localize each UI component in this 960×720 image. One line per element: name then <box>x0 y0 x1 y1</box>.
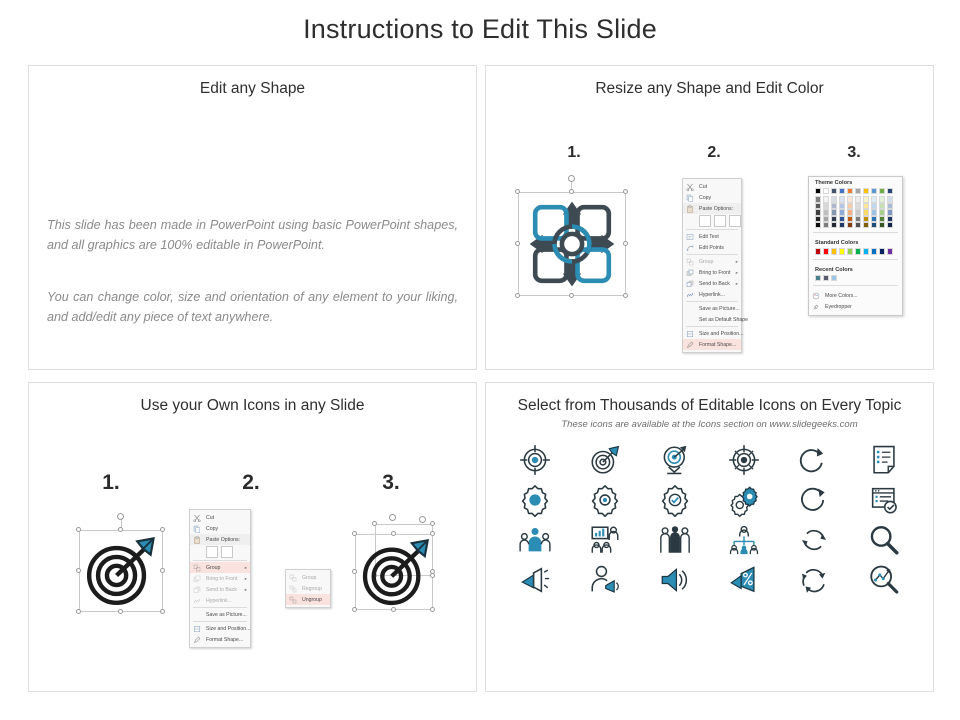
icon-cell[interactable] <box>849 443 919 477</box>
resize-handle-n[interactable] <box>569 189 574 194</box>
icon-context-menu[interactable]: Cut Copy Paste Options: Group ▸ <box>189 509 251 648</box>
analytics-search-icon <box>867 563 901 597</box>
icon-library-grid <box>500 443 919 597</box>
theme-color-column <box>879 188 885 228</box>
theme-color-column <box>871 188 877 228</box>
edit-shape-paragraph-2: You can change color, size and orientati… <box>47 288 458 327</box>
group-icon <box>193 564 201 572</box>
ctx-item-group[interactable]: Group ▸ <box>683 256 741 267</box>
hyperlink-icon <box>686 291 694 299</box>
swatch[interactable] <box>847 222 853 228</box>
icon-library-subtitle: These icons are available at the Icons s… <box>486 419 933 430</box>
submenu-arrow-icon: ▸ <box>736 281 738 287</box>
icon-cell[interactable] <box>710 523 780 557</box>
resize-handle-se[interactable] <box>160 609 165 614</box>
swatch[interactable] <box>839 248 845 254</box>
swatch[interactable] <box>815 222 821 228</box>
double-gear-icon <box>727 483 761 517</box>
ctx-item-cut[interactable]: Cut <box>683 181 741 192</box>
theme-color-column <box>839 188 845 228</box>
cp-label: More Colors... <box>825 293 858 299</box>
panel-title-edit-shape: Edit any Shape <box>29 80 476 98</box>
swatch[interactable] <box>887 222 893 228</box>
icon-cell[interactable] <box>570 563 640 597</box>
target-dart-graphic <box>83 534 159 608</box>
ctx-item-paste-options: Paste Options: <box>190 534 250 545</box>
icon-cell[interactable] <box>500 443 570 477</box>
ctx-item-size-and-position[interactable]: Size and Position... <box>683 328 741 339</box>
icon-cell[interactable] <box>640 523 710 557</box>
rotation-handle-part[interactable] <box>419 516 426 523</box>
swatch[interactable] <box>847 248 853 254</box>
ctx-label: Format Shape... <box>699 342 736 348</box>
checklist-approved-icon <box>867 483 901 517</box>
panel-own-icons: Use your Own Icons in any Slide 1. 2. 3. <box>28 382 477 692</box>
swatch[interactable] <box>871 188 877 194</box>
resize-handle-w[interactable] <box>352 569 357 574</box>
target-dart-graphic <box>359 536 433 608</box>
icon-cell[interactable] <box>779 563 849 597</box>
ctx-label: Edit Points <box>699 245 724 251</box>
group-people-icon <box>658 523 692 557</box>
swatch[interactable] <box>823 275 829 281</box>
megaphone-icon <box>518 563 552 597</box>
ctx-item-size-and-position[interactable]: Size and Position... <box>190 623 250 634</box>
gear-small-icon <box>588 483 622 517</box>
recycle-arrows-icon <box>797 563 831 597</box>
size-position-icon <box>686 330 694 338</box>
ctx-separator <box>193 607 247 608</box>
ctx-separator <box>686 229 738 230</box>
resize-handle-ne[interactable] <box>623 189 628 194</box>
icon-cell[interactable] <box>640 563 710 597</box>
resize-handle-se[interactable] <box>623 293 628 298</box>
ctx-item-edit-text[interactable]: Edit Text <box>683 231 741 242</box>
icon-cell[interactable] <box>849 483 919 517</box>
submenu-arrow-icon: ▸ <box>736 270 738 276</box>
icon-cell[interactable] <box>779 523 849 557</box>
ctx-item-cut[interactable]: Cut <box>190 512 250 523</box>
scissors-icon <box>193 514 201 522</box>
four-square-arrows-graphic <box>524 198 620 290</box>
ctx-label: Size and Position... <box>699 331 743 337</box>
panel-resize-shape: Resize any Shape and Edit Color 1. 2. 3. <box>485 65 934 370</box>
icon-cell[interactable] <box>849 523 919 557</box>
resize-handle-w[interactable] <box>515 241 520 246</box>
theme-color-column <box>815 188 821 228</box>
icon-cell[interactable] <box>710 443 780 477</box>
swatch[interactable] <box>879 248 885 254</box>
theme-colors-label: Theme Colors <box>809 177 902 188</box>
icon-cell[interactable] <box>570 483 640 517</box>
swatch[interactable] <box>815 188 821 194</box>
ctx-item-set-default-shape[interactable]: Set as Default Shape <box>683 314 741 325</box>
bring-front-icon <box>193 575 201 583</box>
ctx-label: Cut <box>206 515 214 521</box>
magnifier-icon <box>867 523 901 557</box>
checklist-document-icon <box>867 443 901 477</box>
ctx-separator <box>686 254 738 255</box>
theme-color-column <box>887 188 893 228</box>
ctx-label: Hyperlink... <box>206 598 232 604</box>
paste-options-buttons[interactable] <box>190 545 250 559</box>
presentation-team-icon <box>588 523 622 557</box>
panel-edit-any-shape: Edit any Shape This slide has been made … <box>28 65 477 370</box>
megaphone-percent-icon <box>727 563 761 597</box>
submenu-item-ungroup[interactable]: Ungroup <box>286 594 330 605</box>
part-handle-ne[interactable] <box>430 521 435 526</box>
swatch[interactable] <box>871 222 877 228</box>
page-title: Instructions to Edit This Slide <box>0 14 960 45</box>
paste-keep-formatting-button[interactable] <box>206 546 218 558</box>
group-submenu[interactable]: Group Regroup Ungroup <box>285 569 331 608</box>
submenu-arrow-icon: ▸ <box>245 565 247 571</box>
standard-colors-row[interactable] <box>809 248 902 254</box>
copy-icon <box>686 194 694 202</box>
ctx-label: Format Shape... <box>206 637 243 643</box>
theme-colors-grid[interactable] <box>809 188 902 228</box>
paste-picture-button[interactable] <box>221 546 233 558</box>
icon-cell[interactable] <box>500 483 570 517</box>
icon-cell[interactable] <box>710 563 780 597</box>
swatch[interactable] <box>879 222 885 228</box>
ctx-item-format-shape[interactable]: Format Shape... <box>190 634 250 645</box>
team-leader-icon <box>518 523 552 557</box>
theme-color-column <box>855 188 861 228</box>
theme-color-column <box>823 188 829 228</box>
resize-step-3-number: 3. <box>824 144 884 162</box>
format-shape-icon <box>193 636 201 644</box>
recent-colors-row[interactable] <box>809 275 902 281</box>
paste-icon <box>686 205 694 213</box>
ctx-label: Bring to Front <box>206 576 237 582</box>
ctx-item-copy[interactable]: Copy <box>683 192 741 203</box>
target-crosshair-filled-icon <box>518 443 552 477</box>
swatch[interactable] <box>863 188 869 194</box>
ctx-label: Send to Back <box>206 587 237 593</box>
regroup-icon <box>289 585 297 593</box>
bring-front-icon <box>686 269 694 277</box>
target-dart-icon <box>588 443 622 477</box>
swatch[interactable] <box>823 248 829 254</box>
rotation-handle[interactable] <box>389 514 396 521</box>
swatch[interactable] <box>831 275 837 281</box>
color-picker-separator <box>813 232 898 233</box>
send-back-icon <box>193 586 201 594</box>
standard-colors-label: Standard Colors <box>809 237 902 248</box>
submenu-arrow-icon: ▸ <box>736 259 738 265</box>
ctx-label: Edit Text <box>699 234 719 240</box>
ctx-label: Bring to Front <box>699 270 730 276</box>
selected-target-dart-icon[interactable] <box>67 508 187 628</box>
resize-handle-e[interactable] <box>160 568 165 573</box>
gear-check-icon <box>658 483 692 517</box>
ctx-item-save-as-picture[interactable]: Save as Picture... <box>683 303 741 314</box>
resize-handle-e[interactable] <box>623 241 628 246</box>
ctx-label: Group <box>302 575 316 581</box>
recent-colors-label: Recent Colors <box>809 264 902 275</box>
ctx-label: Copy <box>206 526 218 532</box>
ungroup-icon <box>289 596 297 604</box>
ctx-label: Group <box>206 565 220 571</box>
ctx-item-hyperlink[interactable]: Hyperlink... <box>683 289 741 300</box>
target-crosshair-dark-icon <box>727 443 761 477</box>
part-handle-nw[interactable] <box>372 521 377 526</box>
ctx-item-send-to-back[interactable]: Send to Back ▸ <box>190 584 250 595</box>
ctx-separator <box>193 621 247 622</box>
ctx-label: Hyperlink... <box>699 292 725 298</box>
icon-cell[interactable] <box>570 523 640 557</box>
edit-points-icon <box>686 244 694 252</box>
resize-step-2-number: 2. <box>684 144 744 162</box>
swatch[interactable] <box>887 188 893 194</box>
icon-cell[interactable] <box>500 563 570 597</box>
cp-label: Eyedropper <box>825 304 852 310</box>
ctx-label: Set as Default Shape <box>699 317 748 323</box>
resize-handle-nw[interactable] <box>515 189 520 194</box>
gear-filled-icon <box>518 483 552 517</box>
ctx-item-format-shape[interactable]: Format Shape... <box>683 339 741 350</box>
swatch[interactable] <box>887 248 893 254</box>
resize-handle-nw[interactable] <box>352 531 357 536</box>
swatch[interactable] <box>863 248 869 254</box>
ctx-item-save-as-picture[interactable]: Save as Picture... <box>190 609 250 620</box>
swatch[interactable] <box>847 188 853 194</box>
icon-cell[interactable] <box>779 443 849 477</box>
swatch[interactable] <box>831 188 837 194</box>
swatch[interactable] <box>815 248 821 254</box>
eyedropper-item[interactable]: Eyedropper <box>809 301 902 312</box>
target-stand-icon <box>658 443 692 477</box>
swatch[interactable] <box>839 222 845 228</box>
ctx-label: Paste Options: <box>206 537 240 543</box>
ctx-label: Copy <box>699 195 711 201</box>
palette-icon <box>812 292 820 300</box>
color-picker-panel[interactable]: Theme Colors Standard Colors <box>808 176 903 316</box>
resize-handle-sw[interactable] <box>352 607 357 612</box>
send-back-icon <box>686 280 694 288</box>
submenu-arrow-icon: ▸ <box>245 576 247 582</box>
ctx-label: Paste Options: <box>699 206 733 212</box>
icons-step-1-number: 1. <box>81 471 141 495</box>
paste-merge-formatting-button[interactable] <box>714 215 726 227</box>
selected-four-square-shape[interactable] <box>508 178 638 308</box>
color-picker-separator <box>813 259 898 260</box>
paste-options-buttons[interactable] <box>683 214 741 228</box>
swatch[interactable] <box>815 275 821 281</box>
loudspeaker-icon <box>658 563 692 597</box>
shape-context-menu[interactable]: Cut Copy Paste Options: Edit Text <box>682 178 742 353</box>
icon-cell[interactable] <box>710 483 780 517</box>
swatch[interactable] <box>823 188 829 194</box>
icon-cell[interactable] <box>849 563 919 597</box>
edit-shape-paragraph-1: This slide has been made in PowerPoint u… <box>47 216 458 255</box>
swatch[interactable] <box>879 188 885 194</box>
resize-handle-s[interactable] <box>569 293 574 298</box>
swatch[interactable] <box>871 248 877 254</box>
swatch[interactable] <box>839 188 845 194</box>
copy-icon <box>193 525 201 533</box>
team-network-icon <box>727 523 761 557</box>
resize-handle-sw[interactable] <box>515 293 520 298</box>
sync-arrows-icon <box>797 523 831 557</box>
theme-color-column <box>847 188 853 228</box>
ctx-item-edit-points[interactable]: Edit Points <box>683 242 741 253</box>
group-icon <box>686 258 694 266</box>
ctx-item-copy[interactable]: Copy <box>190 523 250 534</box>
ctx-separator <box>686 326 738 327</box>
ungrouped-target-dart-icon[interactable] <box>341 508 461 628</box>
swatch[interactable] <box>831 248 837 254</box>
icons-step-3-number: 3. <box>361 471 421 495</box>
size-position-icon <box>193 625 201 633</box>
ctx-label: Regroup <box>302 586 322 592</box>
resize-handle-nw[interactable] <box>76 527 81 532</box>
eyedropper-icon <box>812 303 820 311</box>
ctx-label: Send to Back <box>699 281 730 287</box>
resize-handle-s[interactable] <box>118 609 123 614</box>
swatch[interactable] <box>855 248 861 254</box>
paste-picture-button[interactable] <box>729 215 741 227</box>
icons-step-2-number: 2. <box>221 471 281 495</box>
swatch[interactable] <box>863 222 869 228</box>
submenu-item-group[interactable]: Group <box>286 572 330 583</box>
ctx-item-group[interactable]: Group ▸ <box>190 562 250 573</box>
resize-handle-sw[interactable] <box>76 609 81 614</box>
icon-cell[interactable] <box>500 523 570 557</box>
rotation-handle[interactable] <box>117 513 124 520</box>
ctx-label: Group <box>699 259 713 265</box>
slide-canvas: Instructions to Edit This Slide Edit any… <box>0 0 960 720</box>
hyperlink-icon <box>193 597 201 605</box>
more-colors-item[interactable]: More Colors... <box>809 290 902 301</box>
resize-step-1-number: 1. <box>544 144 604 162</box>
icon-cell[interactable] <box>570 443 640 477</box>
format-shape-icon <box>686 341 694 349</box>
paste-keep-formatting-button[interactable] <box>699 215 711 227</box>
person-announce-icon <box>588 563 622 597</box>
redo-arrow-icon <box>797 443 831 477</box>
refresh-arrow-icon <box>797 483 831 517</box>
ctx-item-bring-to-front[interactable]: Bring to Front ▸ <box>683 267 741 278</box>
submenu-item-regroup[interactable]: Regroup <box>286 583 330 594</box>
panel-title-own-icons: Use your Own Icons in any Slide <box>29 397 476 415</box>
ctx-label: Save as Picture... <box>699 306 740 312</box>
ctx-item-hyperlink[interactable]: Hyperlink... <box>190 595 250 606</box>
scissors-icon <box>686 183 694 191</box>
resize-handle-ne[interactable] <box>160 527 165 532</box>
resize-handle-w[interactable] <box>76 568 81 573</box>
swatch[interactable] <box>855 222 861 228</box>
ctx-label: Cut <box>699 184 707 190</box>
panel-title-resize-shape: Resize any Shape and Edit Color <box>486 80 933 98</box>
ctx-item-paste-options: Paste Options: <box>683 203 741 214</box>
ctx-separator <box>686 301 738 302</box>
submenu-arrow-icon: ▸ <box>245 587 247 593</box>
swatch[interactable] <box>855 188 861 194</box>
color-picker-separator <box>813 285 898 286</box>
swatch[interactable] <box>823 222 829 228</box>
icon-cell[interactable] <box>779 483 849 517</box>
paste-icon <box>193 536 201 544</box>
ctx-label: Save as Picture... <box>206 612 247 618</box>
panel-title-icon-library: Select from Thousands of Editable Icons … <box>486 397 933 415</box>
ctx-item-bring-to-front[interactable]: Bring to Front ▸ <box>190 573 250 584</box>
theme-color-column <box>831 188 837 228</box>
rotation-handle[interactable] <box>568 175 575 182</box>
ctx-item-send-to-back[interactable]: Send to Back ▸ <box>683 278 741 289</box>
icon-cell[interactable] <box>640 483 710 517</box>
panel-icon-library: Select from Thousands of Editable Icons … <box>485 382 934 692</box>
group-icon <box>289 574 297 582</box>
ctx-label: Ungroup <box>302 597 322 603</box>
ctx-label: Size and Position... <box>206 626 250 632</box>
icon-cell[interactable] <box>640 443 710 477</box>
ctx-separator <box>193 560 247 561</box>
swatch[interactable] <box>831 222 837 228</box>
resize-handle-n[interactable] <box>118 527 123 532</box>
edit-text-icon <box>686 233 694 241</box>
theme-color-column <box>863 188 869 228</box>
